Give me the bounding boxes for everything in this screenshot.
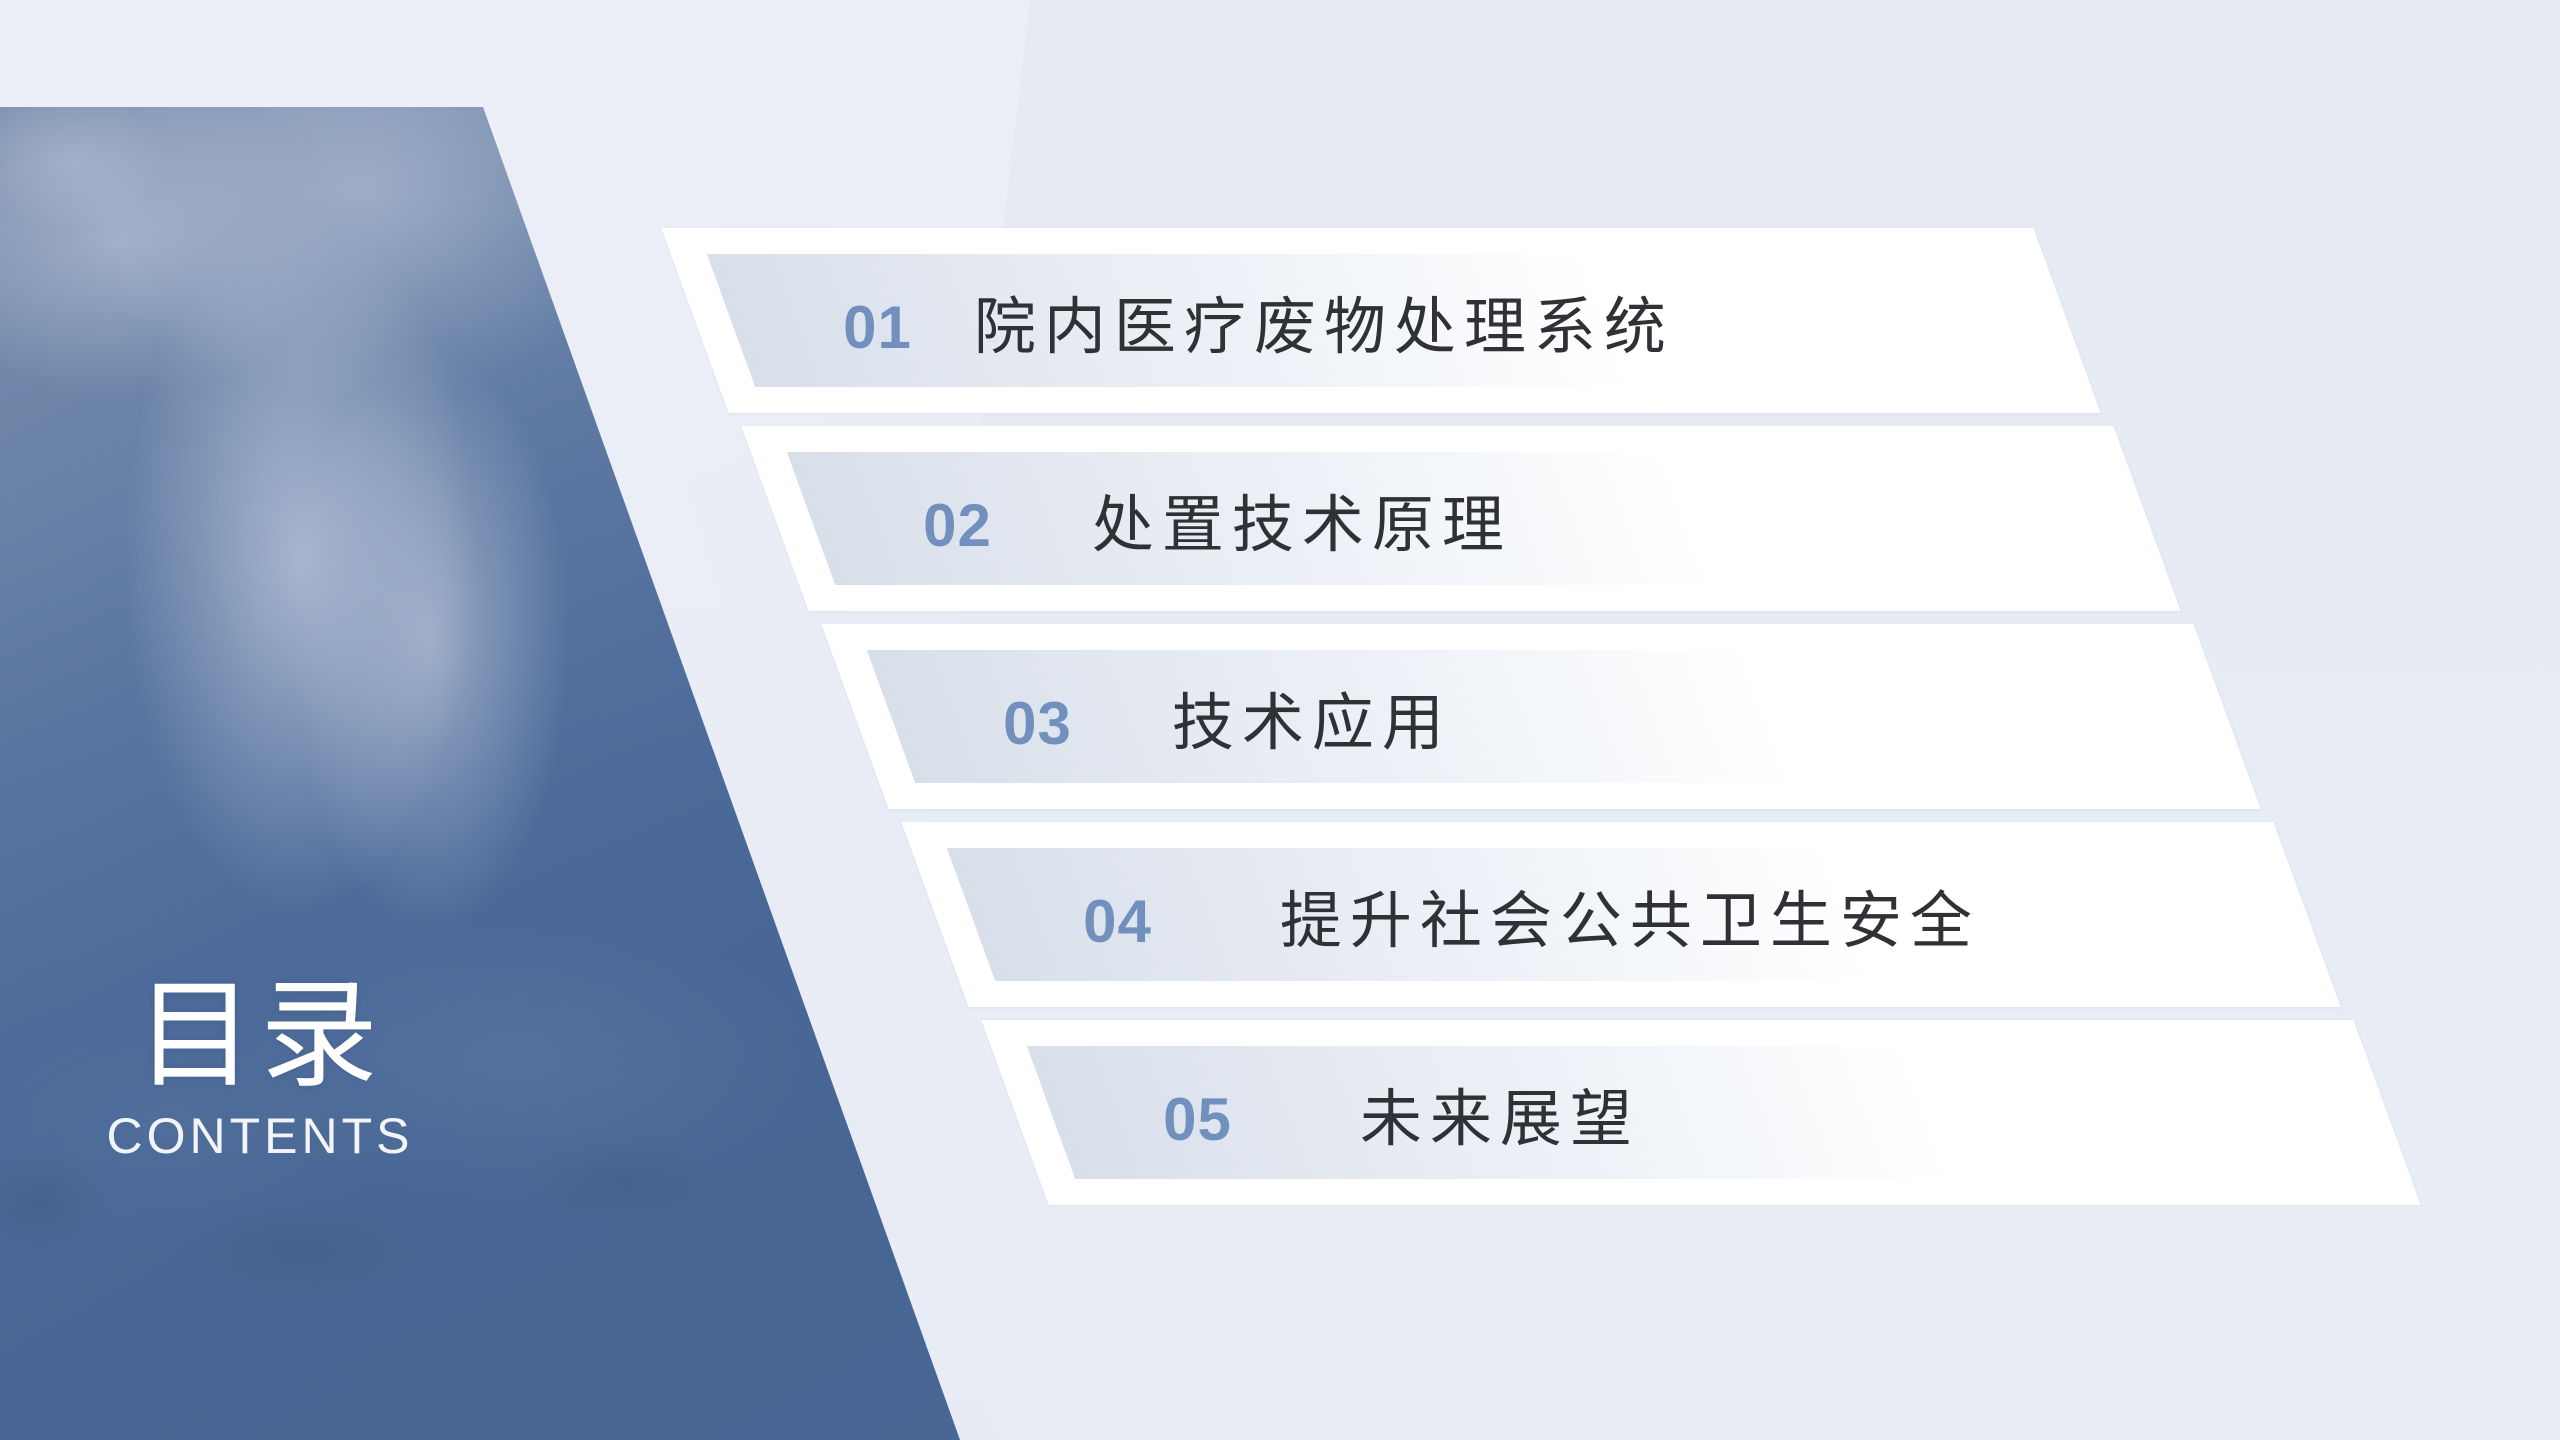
contents-item-05[interactable]: 05 未来展望 (981, 1020, 2420, 1205)
contents-item-02[interactable]: 02 处置技术原理 (741, 426, 2180, 611)
contents-item-label-03: 技术应用 (1172, 672, 1452, 762)
contents-item-content-02: 02 处置技术原理 (923, 474, 1512, 564)
title-block: 目录 CONTENTS (0, 975, 520, 1164)
page-title-cn: 目录 (0, 975, 520, 1099)
contents-item-label-05: 未来展望 (1360, 1068, 1640, 1158)
contents-item-content-04: 04 提升社会公共卫生安全 (1083, 870, 1980, 960)
contents-item-content-03: 03 技术应用 (1003, 672, 1452, 762)
contents-item-number-05: 05 (1163, 1085, 1232, 1154)
contents-item-label-02: 处置技术原理 (1092, 474, 1512, 564)
contents-slide: 目录 CONTENTS 01 院内医疗废物处理系统 02 处置技术原理 03 技… (0, 0, 2560, 1440)
contents-item-number-02: 02 (923, 491, 992, 560)
contents-item-number-01: 01 (843, 293, 912, 362)
contents-item-label-01: 院内医疗废物处理系统 (974, 276, 1674, 366)
contents-item-03[interactable]: 03 技术应用 (821, 624, 2260, 809)
page-title-en: CONTENTS (0, 1109, 520, 1164)
contents-list: 01 院内医疗废物处理系统 02 处置技术原理 03 技术应用 04 提升社会公… (0, 0, 2560, 1440)
contents-item-content-01: 01 院内医疗废物处理系统 (843, 276, 1674, 366)
contents-item-number-04: 04 (1083, 887, 1152, 956)
contents-item-01[interactable]: 01 院内医疗废物处理系统 (661, 228, 2100, 413)
contents-item-number-03: 03 (1003, 689, 1072, 758)
contents-item-content-05: 05 未来展望 (1163, 1068, 1640, 1158)
contents-item-04[interactable]: 04 提升社会公共卫生安全 (901, 822, 2340, 1007)
contents-item-label-04: 提升社会公共卫生安全 (1280, 870, 1980, 960)
